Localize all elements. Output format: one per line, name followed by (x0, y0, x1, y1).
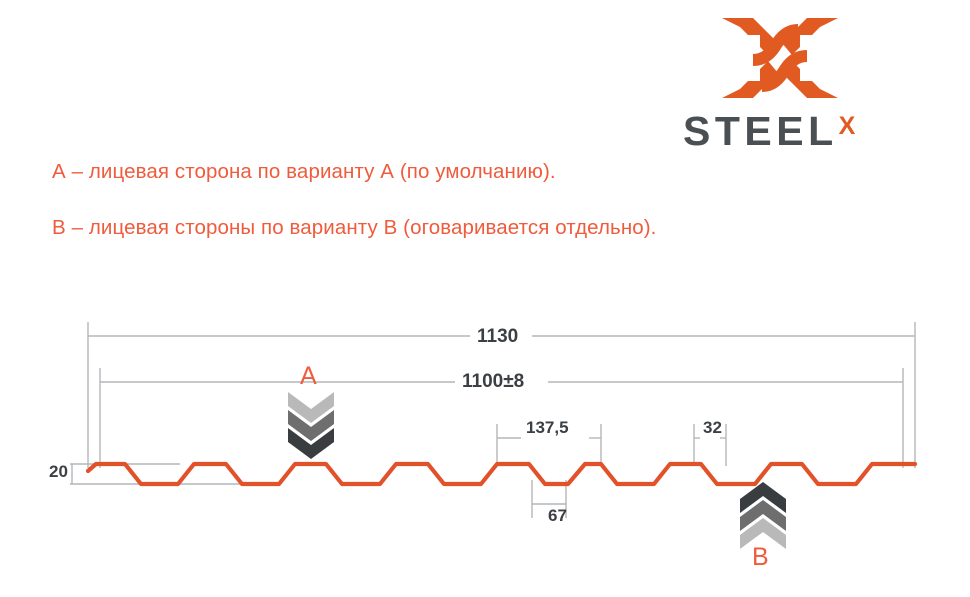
marker-side-a (288, 392, 334, 459)
dimension-label-working-width: 1100±8 (462, 371, 524, 393)
dimension-rib-height (70, 464, 275, 484)
marker-side-b (740, 482, 786, 549)
dimension-label-rib-pitch: 137,5 (526, 418, 569, 438)
marker-letter-b: В (752, 543, 769, 572)
profile-technical-drawing (0, 0, 970, 597)
marker-letter-a: А (300, 362, 317, 391)
dimension-label-overall-width: 1130 (477, 326, 518, 348)
chevron-up-icon (740, 482, 786, 549)
dimension-label-valley-width: 67 (548, 506, 567, 526)
profile-cross-section-line (88, 464, 915, 484)
dimension-label-crest-width: 32 (703, 418, 722, 438)
dimension-label-rib-height: 20 (49, 462, 68, 482)
chevron-down-icon (288, 392, 334, 459)
